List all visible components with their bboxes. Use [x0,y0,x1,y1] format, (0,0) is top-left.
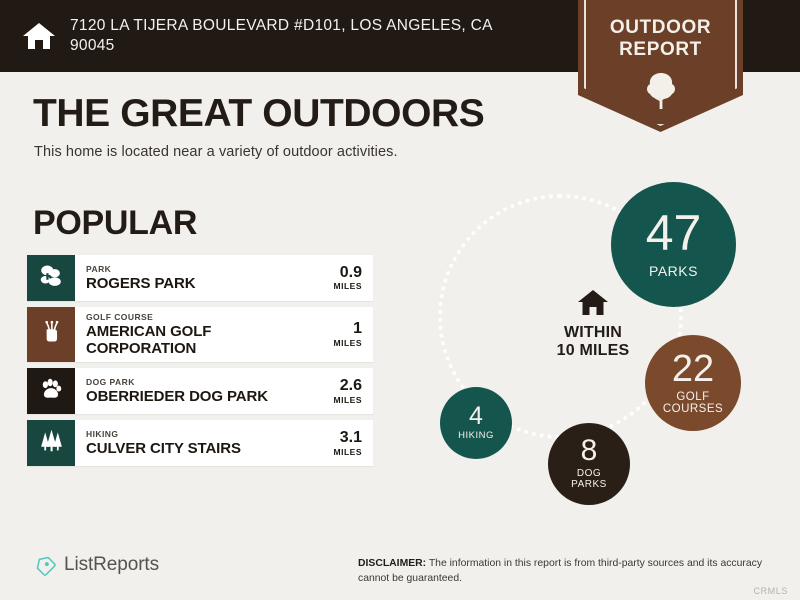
bubble-dog-parks[interactable]: 8 DOG PARKS [548,423,630,505]
badge-title-line1: OUTDOOR [578,17,743,39]
list-item-category: GOLF COURSE [86,312,301,322]
list-item[interactable]: HIKING CULVER CITY STAIRS 3.1 MILES [27,420,373,466]
list-item-category: HIKING [86,429,301,439]
bubble-label: PARKS [649,264,698,279]
disclaimer: DISCLAIMER: The information in this repo… [358,556,770,586]
bubble-label: HIKING [458,431,494,441]
watermark: CRMLS [753,586,788,596]
list-item[interactable]: GOLF COURSE AMERICAN GOLF CORPORATION 1 … [27,307,373,362]
home-icon [577,288,609,318]
distance-value: 2.6 [340,378,362,395]
list-item-body: DOG PARK OBERRIEDER DOG PARK [75,368,307,414]
list-item-icon-tile [27,307,75,362]
distance-value: 1 [353,321,362,338]
amenity-bubble-diagram: WITHIN 10 MILES 47 PARKS 22 GOLF COURSES… [420,170,780,520]
disclaimer-label: DISCLAIMER: [358,558,426,569]
list-item-icon-tile [27,255,75,301]
popular-heading: POPULAR [33,204,197,243]
list-item-name: OBERRIEDER DOG PARK [86,388,301,405]
list-item-name: AMERICAN GOLF CORPORATION [86,323,301,357]
list-item-body: GOLF COURSE AMERICAN GOLF CORPORATION [75,307,307,362]
list-item-category: DOG PARK [86,377,301,387]
list-item-icon-tile [27,420,75,466]
list-item[interactable]: DOG PARK OBERRIEDER DOG PARK 2.6 MILES [27,368,373,414]
listreports-logo-icon [33,553,64,577]
distance-unit: MILES [334,447,362,457]
distance-value: 0.9 [340,265,362,282]
popular-list: PARK ROGERS PARK 0.9 MILES GOL [27,255,373,472]
list-item-body: PARK ROGERS PARK [75,255,307,301]
list-item-category: PARK [86,264,301,274]
page-title: THE GREAT OUTDOORS [33,92,484,136]
home-icon [22,19,56,53]
listreports-logo-text: ListReports [64,554,159,576]
bubble-golf-courses[interactable]: 22 GOLF COURSES [645,335,741,431]
list-item-name: ROGERS PARK [86,275,301,292]
tree-icon [644,72,678,110]
bubble-count: 22 [672,351,714,387]
property-address: 7120 LA TIJERA BOULEVARD #D101, LOS ANGE… [70,16,520,56]
outdoor-report-badge: OUTDOOR REPORT [578,0,743,132]
list-item-name: CULVER CITY STAIRS [86,440,301,457]
listreports-logo[interactable]: ListReports [33,553,159,577]
list-item[interactable]: PARK ROGERS PARK 0.9 MILES [27,255,373,301]
park-trees-icon [37,262,65,295]
center-line-2: 10 MILES [518,342,668,360]
distance-value: 3.1 [340,430,362,447]
badge-title-line2: REPORT [578,39,743,61]
bubble-count: 4 [469,405,483,429]
list-item-distance: 1 MILES [307,307,373,362]
paw-print-icon [38,376,64,407]
distance-unit: MILES [334,338,362,348]
distance-unit: MILES [334,395,362,405]
list-item-body: HIKING CULVER CITY STAIRS [75,420,307,466]
distance-unit: MILES [334,281,362,291]
list-item-icon-tile [27,368,75,414]
bubble-label: GOLF COURSES [663,391,723,416]
bubble-label-line2: COURSES [663,403,723,415]
bubble-count: 8 [581,437,598,466]
bubble-parks[interactable]: 47 PARKS [611,182,736,307]
center-line-1: WITHIN [518,324,668,342]
bubble-label: DOG PARKS [571,469,607,491]
pine-trees-icon [38,427,65,459]
page-subtitle: This home is located near a variety of o… [34,144,398,160]
bubble-hiking[interactable]: 4 HIKING [440,387,512,459]
bubble-label-line2: PARKS [571,480,607,491]
bubble-count: 47 [646,210,702,258]
list-item-distance: 3.1 MILES [307,420,373,466]
badge-title: OUTDOOR REPORT [578,17,743,60]
list-item-distance: 2.6 MILES [307,368,373,414]
list-item-distance: 0.9 MILES [307,255,373,301]
bubble-label-line1: GOLF [663,391,723,403]
golf-bag-icon [38,319,64,350]
